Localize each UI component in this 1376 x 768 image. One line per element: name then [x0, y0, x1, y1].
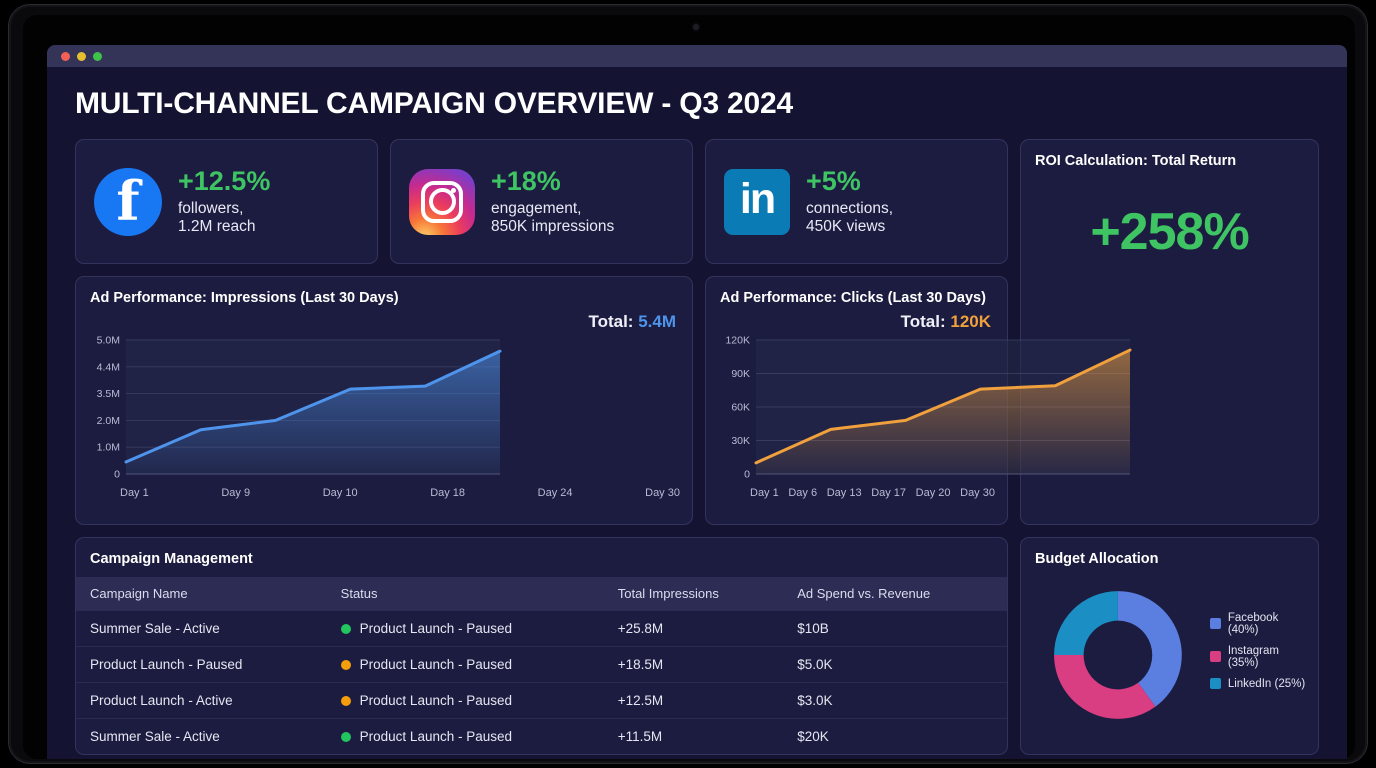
laptop-frame: MULTI-CHANNEL CAMPAIGN OVERVIEW - Q3 202… — [8, 4, 1368, 764]
status-dot-icon — [341, 696, 351, 706]
x-tick-label: Day 1 — [120, 487, 149, 499]
dashboard-grid: +12.5% followers, 1.2M reach +18% engage… — [75, 139, 1319, 759]
budget-title: Budget Allocation — [1021, 538, 1318, 567]
cell-status: Product Launch - Paused — [327, 611, 604, 647]
impressions-total-value: 5.4M — [638, 312, 676, 331]
minimize-button[interactable] — [77, 52, 86, 61]
table-header-row: Campaign NameStatusTotal ImpressionsAd S… — [76, 577, 1007, 611]
kpi-percent: +5% — [806, 166, 893, 198]
table-column-header[interactable]: Status — [327, 577, 604, 611]
status-dot-icon — [341, 624, 351, 634]
cell-status: Product Launch - Paused — [327, 683, 604, 719]
impressions-chart-card: Ad Performance: Impressions (Last 30 Day… — [75, 276, 693, 525]
x-tick-label: Day 1 — [750, 487, 779, 499]
x-tick-label: Day 6 — [788, 487, 817, 499]
impressions-chart-title: Ad Performance: Impressions (Last 30 Day… — [76, 277, 692, 306]
kpi-line-1: followers, — [178, 200, 270, 218]
legend-swatch-icon — [1210, 618, 1221, 629]
cell-campaign-name: Product Launch - Paused — [76, 647, 327, 683]
status-badge: Product Launch - Paused — [341, 621, 590, 636]
table-body: Summer Sale - ActiveProduct Launch - Pau… — [76, 611, 1007, 755]
cell-total-impressions: +18.5M — [604, 647, 784, 683]
table-row[interactable]: Product Launch - ActiveProduct Launch - … — [76, 683, 1007, 719]
window-titlebar — [47, 45, 1347, 67]
svg-text:4.4M: 4.4M — [97, 361, 120, 373]
clicks-total: Total: 120K — [706, 306, 1007, 334]
kpi-line-1: connections, — [806, 200, 893, 218]
kpi-card-instagram[interactable]: +18% engagement, 850K impressions — [390, 139, 693, 264]
svg-text:0: 0 — [114, 469, 120, 481]
table-row[interactable]: Summer Sale - ActiveProduct Launch - Pau… — [76, 719, 1007, 755]
table-column-header[interactable]: Total Impressions — [604, 577, 784, 611]
impressions-total-label: Total: — [588, 312, 633, 331]
svg-text:3.5M: 3.5M — [97, 388, 120, 400]
table-row[interactable]: Summer Sale - ActiveProduct Launch - Pau… — [76, 611, 1007, 647]
clicks-plot: 030K60K90K120K — [706, 334, 1007, 484]
status-dot-icon — [341, 660, 351, 670]
svg-text:60K: 60K — [731, 402, 750, 414]
kpi-line-1: engagement, — [491, 200, 614, 218]
roi-total-value: +258% — [1090, 202, 1248, 262]
dashboard-page: MULTI-CHANNEL CAMPAIGN OVERVIEW - Q3 202… — [47, 67, 1347, 759]
clicks-total-label: Total: — [901, 312, 946, 331]
cell-total-impressions: +11.5M — [604, 719, 784, 755]
status-badge: Product Launch - Paused — [341, 657, 590, 672]
legend-item[interactable]: LinkedIn (25%) — [1210, 678, 1308, 690]
impressions-x-axis: Day 1Day 9Day 10Day 18Day 24Day 30 — [76, 484, 692, 499]
impressions-plot: 01.0M2.0M3.5M4.4M5.0M — [76, 334, 692, 484]
maximize-button[interactable] — [93, 52, 102, 61]
budget-donut-svg — [1035, 575, 1202, 735]
clicks-svg: 030K60K90K120K — [714, 334, 1138, 484]
svg-text:90K: 90K — [731, 368, 750, 380]
linkedin-icon — [724, 169, 790, 235]
kpi-line-2: 1.2M reach — [178, 218, 270, 236]
legend-item[interactable]: Facebook (40%) — [1210, 612, 1308, 636]
campaign-table: Campaign NameStatusTotal ImpressionsAd S… — [76, 577, 1007, 754]
svg-text:1.0M: 1.0M — [97, 442, 120, 454]
clicks-chart-title: Ad Performance: Clicks (Last 30 Days) — [706, 277, 1007, 306]
clicks-total-value: 120K — [950, 312, 991, 331]
cell-status: Product Launch - Paused — [327, 719, 604, 755]
impressions-svg: 01.0M2.0M3.5M4.4M5.0M — [84, 334, 508, 484]
cell-campaign-name: Summer Sale - Active — [76, 611, 327, 647]
svg-text:2.0M: 2.0M — [97, 415, 120, 427]
kpi-percent: +18% — [491, 166, 614, 198]
kpi-card-facebook[interactable]: +12.5% followers, 1.2M reach — [75, 139, 378, 264]
legend-label: Instagram (35%) — [1228, 645, 1308, 669]
legend-swatch-icon — [1210, 678, 1221, 689]
kpi-text: +5% connections, 450K views — [806, 166, 893, 236]
x-tick-label: Day 20 — [916, 487, 951, 499]
instagram-glyph — [421, 181, 463, 223]
cell-campaign-name: Summer Sale - Active — [76, 719, 327, 755]
x-tick-label: Day 18 — [430, 487, 465, 499]
status-label: Product Launch - Paused — [360, 693, 512, 708]
kpi-text: +18% engagement, 850K impressions — [491, 166, 614, 236]
roi-total-title: ROI Calculation: Total Return — [1021, 140, 1318, 169]
facebook-icon — [94, 168, 162, 236]
x-tick-label: Day 30 — [645, 487, 680, 499]
impressions-total: Total: 5.4M — [76, 306, 692, 334]
x-tick-label: Day 13 — [827, 487, 862, 499]
campaign-management-card: Campaign Management Campaign NameStatusT… — [75, 537, 1008, 755]
svg-text:5.0M: 5.0M — [97, 335, 120, 347]
table-column-header[interactable]: Campaign Name — [76, 577, 327, 611]
roi-value-wrap: +258% — [1021, 169, 1318, 294]
table-row[interactable]: Product Launch - PausedProduct Launch - … — [76, 647, 1007, 683]
x-tick-label: Day 17 — [871, 487, 906, 499]
cell-total-impressions: +25.8M — [604, 611, 784, 647]
legend-label: Facebook (40%) — [1228, 612, 1308, 636]
legend-item[interactable]: Instagram (35%) — [1210, 645, 1308, 669]
legend-label: LinkedIn (25%) — [1228, 678, 1305, 690]
budget-legend: Facebook (40%)Instagram (35%)LinkedIn (2… — [1210, 612, 1308, 699]
x-tick-label: Day 24 — [538, 487, 573, 499]
kpi-percent: +12.5% — [178, 166, 270, 198]
legend-swatch-icon — [1210, 651, 1221, 662]
cell-campaign-name: Product Launch - Active — [76, 683, 327, 719]
kpi-line-2: 850K impressions — [491, 218, 614, 236]
status-label: Product Launch - Paused — [360, 621, 512, 636]
budget-allocation-card: Budget Allocation Facebook (40%)Instagra… — [1020, 537, 1319, 755]
svg-text:30K: 30K — [731, 435, 750, 447]
cell-ad-spend-revenue: $5.0K — [783, 647, 1007, 683]
clicks-x-axis: Day 1Day 6Day 13Day 17Day 20Day 30 — [706, 484, 1007, 499]
svg-text:120K: 120K — [725, 335, 750, 347]
page-title: MULTI-CHANNEL CAMPAIGN OVERVIEW - Q3 202… — [75, 87, 1319, 121]
status-badge: Product Launch - Paused — [341, 693, 590, 708]
instagram-icon — [409, 169, 475, 235]
kpi-line-2: 450K views — [806, 218, 893, 236]
webcam-icon — [693, 24, 699, 30]
cell-ad-spend-revenue: $10B — [783, 611, 1007, 647]
app-window: MULTI-CHANNEL CAMPAIGN OVERVIEW - Q3 202… — [47, 45, 1347, 759]
close-button[interactable] — [61, 52, 70, 61]
cell-ad-spend-revenue: $3.0K — [783, 683, 1007, 719]
table-column-header[interactable]: Ad Spend vs. Revenue — [783, 577, 1007, 611]
campaign-title: Campaign Management — [76, 538, 1007, 567]
donut-wrap: Facebook (40%)Instagram (35%)LinkedIn (2… — [1021, 567, 1318, 735]
cell-ad-spend-revenue: $20K — [783, 719, 1007, 755]
status-dot-icon — [341, 732, 351, 742]
x-tick-label: Day 30 — [960, 487, 995, 499]
status-label: Product Launch - Paused — [360, 657, 512, 672]
kpi-text: +12.5% followers, 1.2M reach — [178, 166, 270, 236]
status-badge: Product Launch - Paused — [341, 729, 590, 744]
cell-status: Product Launch - Paused — [327, 647, 604, 683]
cell-total-impressions: +12.5M — [604, 683, 784, 719]
kpi-card-linkedin[interactable]: +5% connections, 450K views — [705, 139, 1008, 264]
clicks-chart-card: Ad Performance: Clicks (Last 30 Days) To… — [705, 276, 1008, 525]
svg-text:0: 0 — [744, 469, 750, 481]
x-tick-label: Day 9 — [221, 487, 250, 499]
x-tick-label: Day 10 — [323, 487, 358, 499]
status-label: Product Launch - Paused — [360, 729, 512, 744]
